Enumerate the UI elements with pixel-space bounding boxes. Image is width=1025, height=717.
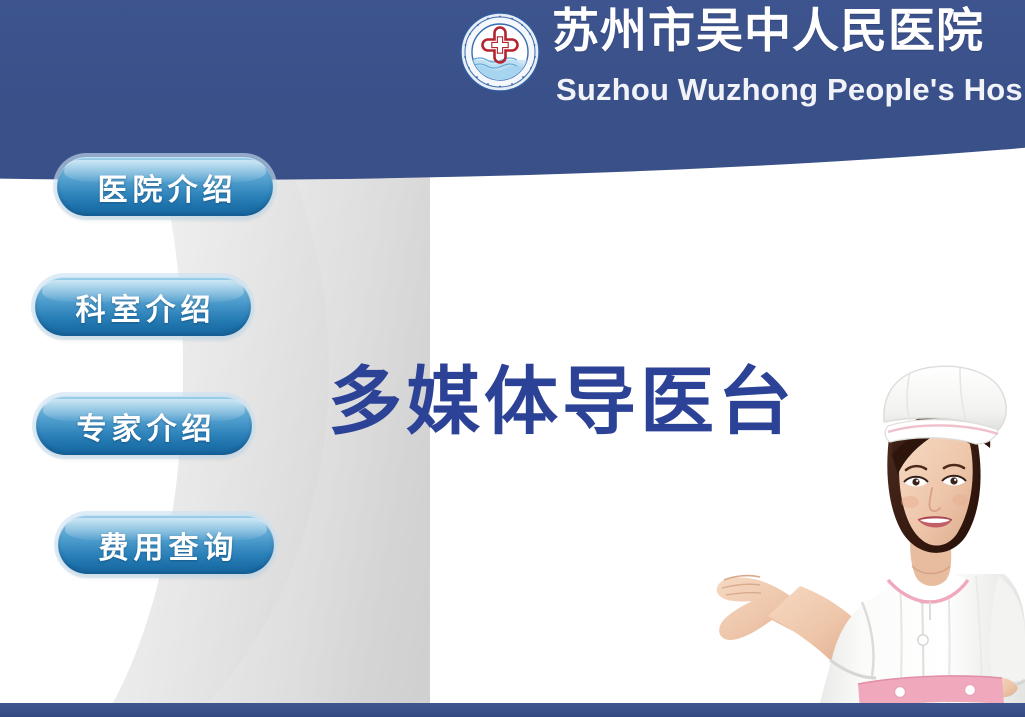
sidebar-item-expert-intro[interactable]: 专家介绍 xyxy=(36,396,252,455)
sidebar-item-expert-intro-label: 专家介绍 xyxy=(72,404,217,448)
kiosk-screen: 苏州市吴中人民医院 Suzhou Wuzhong People's Hospit… xyxy=(0,0,1025,717)
hospital-logo-icon xyxy=(460,12,540,92)
hospital-name-en: Suzhou Wuzhong People's Hospital xyxy=(556,72,1025,108)
sidebar-item-hospital-intro[interactable]: 医院介绍 xyxy=(57,157,273,216)
nurse-illustration xyxy=(600,280,1025,710)
sidebar-item-department-intro[interactable]: 科室介绍 xyxy=(35,277,251,336)
sidebar-item-fee-inquiry-label: 费用查询 xyxy=(94,523,239,567)
footer-bar xyxy=(0,703,1025,717)
sidebar-item-hospital-intro-label: 医院介绍 xyxy=(93,165,238,209)
sidebar-item-fee-inquiry[interactable]: 费用查询 xyxy=(58,515,274,574)
hospital-name-cn: 苏州市吴中人民医院 xyxy=(552,4,984,60)
sidebar-item-department-intro-label: 科室介绍 xyxy=(71,285,216,329)
